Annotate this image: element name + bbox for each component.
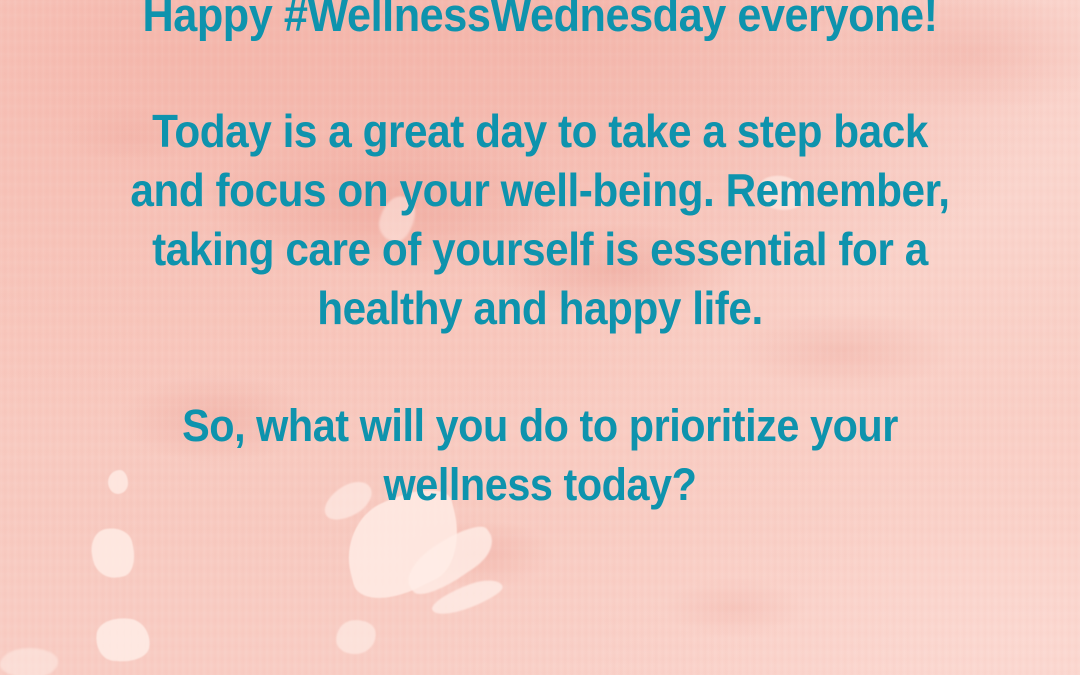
body-paragraph-block: Today is a great day to take a step back…	[0, 102, 1080, 338]
body-question-spacer	[0, 338, 1080, 396]
question-line-2: wellness today?	[43, 455, 1037, 514]
watercolor-splotch-left-middle	[93, 614, 153, 665]
watercolor-splotch-center-lower	[334, 618, 377, 656]
body-line-3: taking care of yourself is essential for…	[43, 220, 1037, 279]
watercolor-splotch-left-lower	[87, 524, 138, 582]
headline-block: Happy #WellnessWednesday everyone!	[0, 0, 1080, 46]
wellness-wednesday-poster: Happy #WellnessWednesday everyone! Today…	[0, 0, 1080, 675]
headline-body-spacer	[0, 46, 1080, 102]
watercolor-splotch-bottom-left-edge	[0, 648, 58, 675]
headline-line-1: Happy #WellnessWednesday everyone!	[43, 0, 1037, 46]
body-line-4: healthy and happy life.	[43, 279, 1037, 338]
question-line-1: So, what will you do to prioritize your	[43, 396, 1037, 455]
brush-stroke-center-streak	[428, 574, 505, 620]
brush-stroke-center-tail	[399, 517, 501, 604]
poster-text-stack: Happy #WellnessWednesday everyone! Today…	[0, 0, 1080, 514]
body-line-2: and focus on your well-being. Remember,	[43, 161, 1037, 220]
closing-question-block: So, what will you do to prioritize your …	[0, 396, 1080, 514]
body-line-1: Today is a great day to take a step back	[43, 102, 1037, 161]
